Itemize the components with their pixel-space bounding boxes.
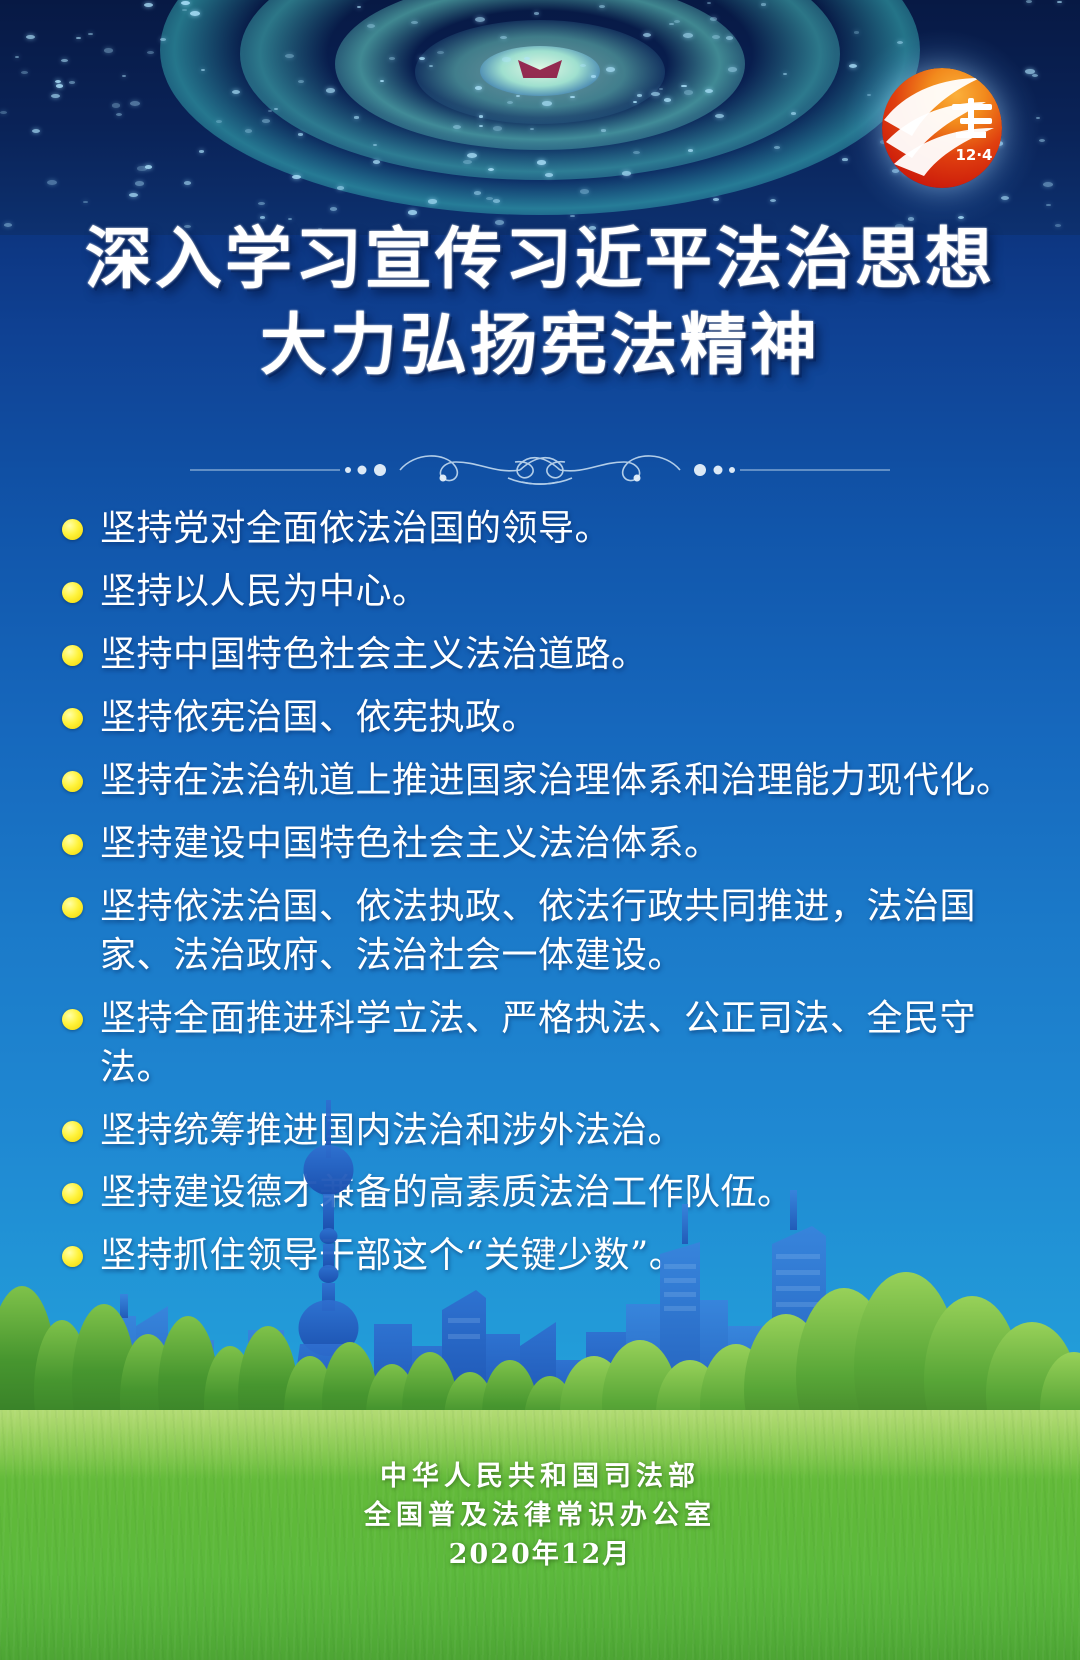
ceiling-light-dot [580,189,589,194]
ceiling-light-dot [429,65,433,67]
ceiling-light-dot [260,216,265,219]
ceiling-light-dot [112,103,121,107]
bullet-dot-icon [62,771,83,792]
ceiling-light-dot [26,35,34,39]
ceiling-light-dot [1026,0,1032,3]
footer-office: 全国普及法律常识办公室 [0,1496,1080,1535]
ceiling-light-dot [479,125,483,127]
principle-item: 坚持依法治国、依法执政、依法行政共同推进，法治国家、法治政府、法治社会一体建设。 [62,883,1022,981]
ceiling-light-dot [710,17,717,20]
principle-text: 坚持依宪治国、依宪执政。 [100,694,538,743]
ceiling-light-dot [380,80,384,82]
ceiling-light-dot [707,2,711,4]
ceiling-light-dot [669,23,674,25]
ceiling-light-dot [411,21,418,25]
ceiling-light-dot [467,153,477,158]
ceiling-light-dot [354,116,358,118]
ceiling-light-dot [761,3,766,5]
ceiling-light-dot [88,33,93,35]
ceiling-light-dot [486,197,493,200]
ceiling-light-dot [47,180,57,185]
principle-item: 坚持中国特色社会主义法治道路。 [62,631,1022,680]
ceiling-light-dot [135,181,144,186]
ceiling-light-dot [474,191,481,194]
ceiling-light-dot [681,85,687,88]
principle-item: 坚持在法治轨道上推进国家治理体系和治理能力现代化。 [62,757,1022,806]
logo-icon: 12·4 [882,68,1002,188]
ceiling-light-dot [258,202,265,205]
ceiling-light-dot [389,57,394,60]
ceiling-light-dot [683,33,692,38]
principle-text: 坚持中国特色社会主义法治道路。 [100,631,648,680]
ceiling-light-dot [268,110,272,112]
ceiling-light-dot [1057,1,1062,3]
principle-text: 坚持以人民为中心。 [100,568,429,617]
ceiling-light-dot [330,207,338,211]
ceiling-light-dot [684,90,693,95]
ceiling-light-dot [713,198,718,201]
ceiling-light-dot [488,168,494,171]
principle-item: 坚持全面推进科学立法、严格执法、公正司法、全民守法。 [62,995,1022,1093]
ceiling-light-dot [408,210,417,214]
ceiling-light-dot [232,90,240,94]
ceiling-light-dot [1025,69,1034,74]
ceiling-light-dot [643,33,651,37]
ceiling-light-dot [537,160,546,164]
ceiling-light-dot [570,215,575,217]
ceiling-light-dot [419,57,425,60]
ceiling-light-dot [145,165,153,169]
ceiling-light-dot [637,94,643,97]
ceiling-light-dot [104,48,113,52]
ceiling-light-dot [51,94,59,98]
poster-title: 深入学习宣传习近平法治思想 大力弘扬宪法精神 [0,225,1080,380]
ceiling-light-dot [262,119,269,123]
ceiling-light-dot [0,111,7,114]
principle-text: 坚持建设中国特色社会主义法治体系。 [100,820,721,869]
ceiling-light-dot [428,199,436,203]
bullet-dot-icon [62,1009,83,1030]
ceiling-light-dot [570,96,575,98]
scenery [0,1100,1080,1660]
ceiling-light-dot [475,17,485,22]
footer-date: 2020年12月 [0,1535,1080,1574]
ceiling-light-dot [791,112,796,115]
ceiling-light-dot [493,126,502,131]
principle-item: 坚持建设中国特色社会主义法治体系。 [62,820,1022,869]
ceiling-light-dot [849,64,857,68]
ceiling-light-dot [21,71,29,75]
ceiling-light-dot [61,59,68,62]
ceiling-light-dot [854,31,859,33]
ceiling-light-dot [507,101,513,104]
ceiling-light-dot [524,57,530,60]
principle-text: 坚持依法治国、依法执政、依法行政共同推进，法治国家、法治政府、法治社会一体建设。 [100,883,1022,981]
ceiling-light-dot [1043,182,1053,187]
ceiling-light-dot [453,125,461,129]
ceiling-light-dot [463,160,472,164]
ceiling-light-dot [774,146,780,149]
bullet-dot-icon [62,645,83,666]
ceiling-light-dot [1032,74,1039,77]
ceiling-light-dot [373,160,380,164]
poster-root: 12·4 深入学习宣传习近平法治思想 大力弘扬宪法精神 [0,0,1080,1660]
principle-item: 坚持党对全面依法治国的领导。 [62,505,1022,554]
ceiling-light-dot [705,89,714,93]
ceiling-light-dot [298,133,303,135]
ceiling-light-dot [32,129,40,133]
principle-text: 坚持在法治轨道上推进国家治理体系和治理能力现代化。 [100,757,1013,806]
ceiling-light-dot [216,120,222,123]
footer-organization: 中华人民共和国司法部 [0,1457,1080,1496]
ceiling-light-dot [664,98,671,101]
ceiling-light-dot [69,81,74,84]
ceiling-light-dot [542,101,551,106]
ceiling-light-dot [190,11,200,16]
ceiling-light-dot [201,69,205,71]
ceiling-light-dot [55,80,61,83]
ceiling-light-dot [160,38,166,41]
ceiling-light-dot [357,6,361,8]
ceiling-light-dot [116,113,123,116]
ceiling-light-dot [688,149,693,152]
principle-text: 坚持党对全面依法治国的领导。 [100,505,611,554]
ceiling-light-dot [633,101,638,103]
ceiling-light-dot [530,128,535,130]
ceiling-light-dot [245,129,253,133]
ceiling-light-dot [651,92,660,96]
bullet-dot-icon [62,897,83,918]
ceiling-light-dot [274,108,279,110]
ceiling-light-dot [479,115,483,117]
ceiling-light-dot [83,201,87,203]
ceiling-light-dot [15,56,20,58]
ceiling-light-dot [326,88,335,93]
ceiling-light-dot [770,199,776,202]
ceiling-light-dot [674,20,680,23]
ceiling-light-dot [534,12,540,15]
ceiling-light-dot [298,80,304,83]
ceiling-light-dot [122,75,127,77]
ceiling-light-dot [144,3,152,7]
ceiling-light-dot [56,84,63,87]
ceiling-light-dot [493,199,501,203]
ceiling-light-dot [181,1,190,6]
ceiling-light-dot [337,186,344,189]
ceiling-light-dot [292,175,301,180]
ceiling-light-dot [622,171,631,176]
ceiling-light-dot [601,129,606,131]
ceiling-light-dot [500,36,507,39]
ceiling-light-dot [199,150,204,153]
ceiling-light-dot [728,67,737,71]
bullet-dot-icon [62,708,83,729]
national-constitution-day-logo[interactable]: 12·4 [882,68,1002,188]
principle-text: 坚持全面推进科学立法、严格执法、公正司法、全民守法。 [100,995,1022,1093]
logo-date-label: 12·4 [955,146,992,164]
ceiling-light-dot [373,144,378,146]
bullet-dot-icon [62,582,83,603]
ceiling-light-dot [437,51,443,54]
ornamental-flourish-divider [190,440,890,486]
ceiling-light-dot [285,54,293,58]
bullet-dot-icon [62,519,83,540]
ceiling-light-dot [184,181,191,185]
ceiling-light-dot [726,36,733,40]
ceiling-light-dot [502,57,511,61]
ceiling-light-dot [712,35,720,39]
ceiling-light-dot [516,95,520,97]
bullet-dot-icon [62,834,83,855]
ceiling-light-dot [659,88,664,90]
poster-footer: 中华人民共和国司法部 全国普及法律常识办公室 2020年12月 [0,1457,1080,1574]
ceiling-light-dot [783,73,787,75]
ceiling-light-dot [715,114,724,119]
title-line-2: 大力弘扬宪法精神 [0,311,1080,379]
ceiling-light-dot [633,151,640,154]
principle-item: 坚持依宪治国、依宪执政。 [62,694,1022,743]
principle-item: 坚持以人民为中心。 [62,568,1022,617]
ceiling-light-dot [76,37,81,39]
ceiling-light-dot [129,193,138,197]
ceiling-light-dot [367,24,375,28]
ceiling-light-dot [599,5,605,8]
ceiling-light-dot [545,173,552,177]
ceiling-light-dot [130,101,140,106]
title-line-1: 深入学习宣传习近平法治思想 [0,225,1080,293]
ceiling-light-dot [591,75,596,77]
ceiling-light-dot [475,86,482,90]
ceiling-light-dot [580,64,586,67]
ceiling-light-dot [147,51,154,54]
ceiling-light-dot [1046,204,1051,207]
ceiling-light-dot [606,67,615,71]
ceiling-light-dot [182,9,186,11]
